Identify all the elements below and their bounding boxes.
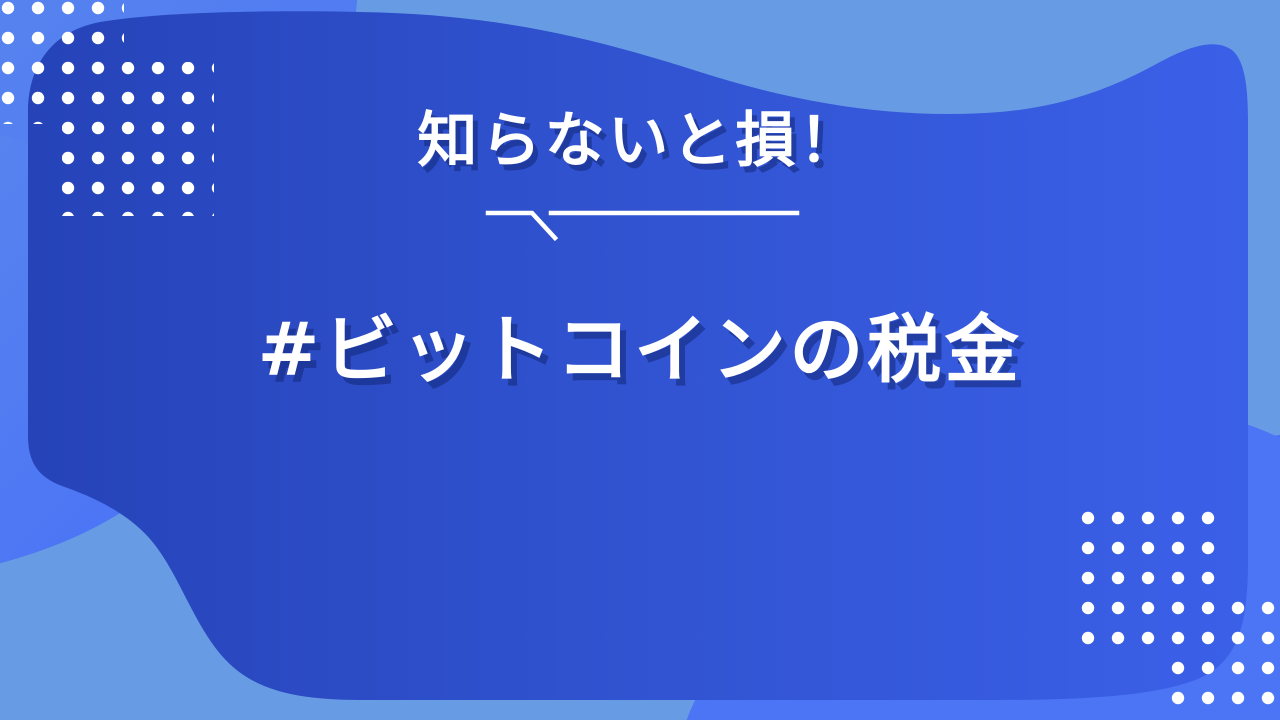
subtitle-text: 知らないと損！: [0, 108, 1280, 174]
angled-underline-divider: [470, 195, 830, 255]
thumbnail-canvas: 知らないと損！ #ビットコインの税金: [0, 0, 1280, 720]
text-layer: 知らないと損！ #ビットコインの税金: [0, 0, 1280, 720]
headline-text: #ビットコインの税金: [0, 310, 1280, 391]
